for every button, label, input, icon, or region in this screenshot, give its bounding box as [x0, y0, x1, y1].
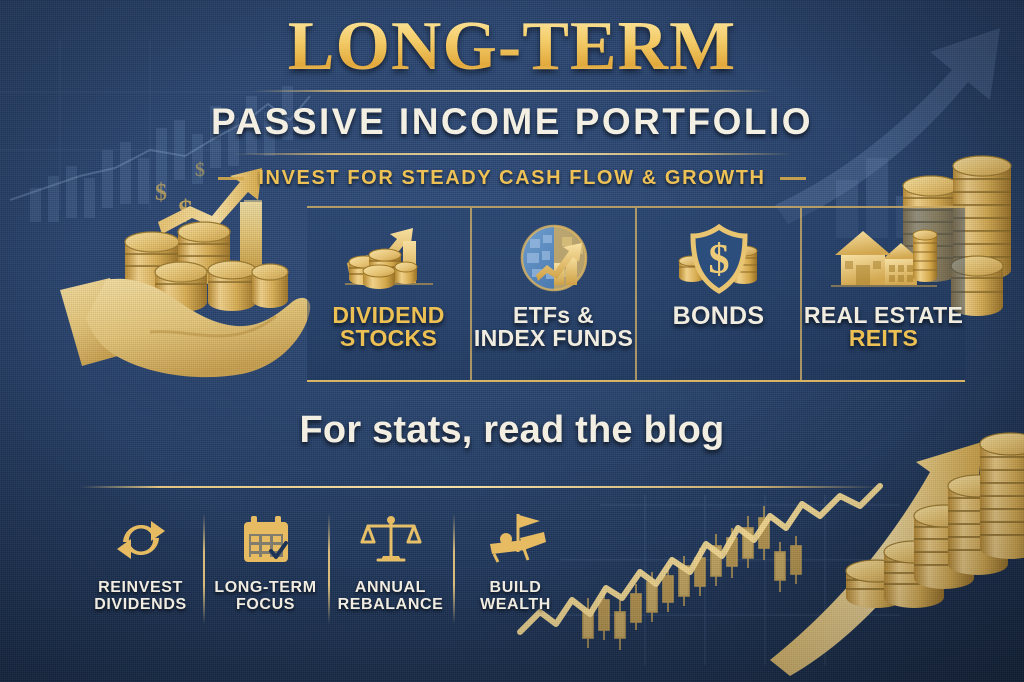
feature-label-line2: DIVIDENDS — [94, 597, 187, 614]
card-label-line1: BONDS — [673, 304, 765, 330]
feature-label: LONG-TERM FOCUS — [214, 580, 316, 614]
feature-reinvest-dividends[interactable]: REINVEST DIVIDENDS — [78, 505, 203, 630]
tagline-row: INVEST FOR STEADY CASH FLOW & GROWTH — [0, 167, 1024, 190]
card-label: REAL ESTATE REITS — [804, 304, 963, 351]
feature-long-term-focus[interactable]: LONG-TERM FOCUS — [203, 505, 328, 630]
card-dividend-stocks[interactable]: DIVIDEND STOCKS — [307, 208, 472, 380]
card-label: ETFs & INDEX FUNDS — [474, 304, 633, 351]
feature-label: BUILD WEALTH — [453, 580, 578, 614]
title-divider — [252, 90, 772, 92]
header-block: LONG-TERM PASSIVE INCOME PORTFOLIO INVES… — [0, 12, 1024, 190]
asset-class-card-row: DIVIDEND STOCKS — [307, 206, 965, 382]
card-etfs-index-funds[interactable]: ETFs & INDEX FUNDS — [472, 208, 637, 380]
feature-label-line2: FOCUS — [214, 597, 316, 614]
card-label-line1: ETFs & — [474, 304, 633, 327]
globe-chart-icon — [514, 220, 594, 298]
feature-label-line2: REBALANCE — [338, 597, 444, 614]
feature-row: REINVEST DIVIDENDS — [78, 505, 578, 630]
mid-headline: For stats, read the blog — [0, 409, 1024, 452]
coins-growth-chart-icon — [341, 220, 437, 298]
card-label-line2: INDEX FUNDS — [474, 327, 633, 350]
feature-annual-rebalance[interactable]: ANNUAL REBALANCE — [328, 505, 453, 630]
foreground-content: LONG-TERM PASSIVE INCOME PORTFOLIO INVES… — [0, 0, 1024, 682]
scales-balance-icon — [361, 509, 421, 571]
page-title: LONG-TERM — [0, 12, 1024, 82]
feature-label-line1: BUILD WEALTH — [453, 580, 578, 614]
calendar-check-icon — [238, 509, 294, 571]
card-label-line2: STOCKS — [332, 327, 444, 350]
shield-dollar-icon: $ — [671, 220, 767, 298]
subtitle-divider — [232, 153, 792, 155]
feature-label: ANNUAL REBALANCE — [338, 580, 444, 614]
feature-label-line1: LONG-TERM — [214, 580, 316, 597]
infographic-poster: $ $ $ — [0, 0, 1024, 682]
dash-right-icon — [780, 177, 806, 180]
feature-build-wealth[interactable]: BUILD WEALTH — [453, 505, 578, 630]
svg-text:$: $ — [708, 237, 729, 283]
beach-lounger-flag-icon — [484, 509, 548, 571]
feature-label-line1: ANNUAL — [338, 580, 444, 597]
card-bonds[interactable]: $ BONDS — [637, 208, 802, 380]
tagline: INVEST FOR STEADY CASH FLOW & GROWTH — [258, 167, 765, 190]
card-label: DIVIDEND STOCKS — [332, 304, 444, 351]
feature-label: REINVEST DIVIDENDS — [94, 580, 187, 614]
card-label-line1: DIVIDEND — [332, 304, 444, 327]
bottom-divider — [80, 486, 880, 488]
recycle-arrows-icon — [113, 509, 169, 571]
dash-left-icon — [218, 177, 244, 180]
house-coins-icon — [829, 220, 939, 298]
card-label-line1: REAL ESTATE — [804, 304, 963, 327]
feature-label-line1: REINVEST — [94, 580, 187, 597]
card-label: BONDS — [673, 304, 765, 330]
page-subtitle: PASSIVE INCOME PORTFOLIO — [0, 101, 1024, 143]
card-label-line2: REITS — [804, 327, 963, 350]
card-real-estate-reits[interactable]: REAL ESTATE REITS — [802, 208, 965, 380]
